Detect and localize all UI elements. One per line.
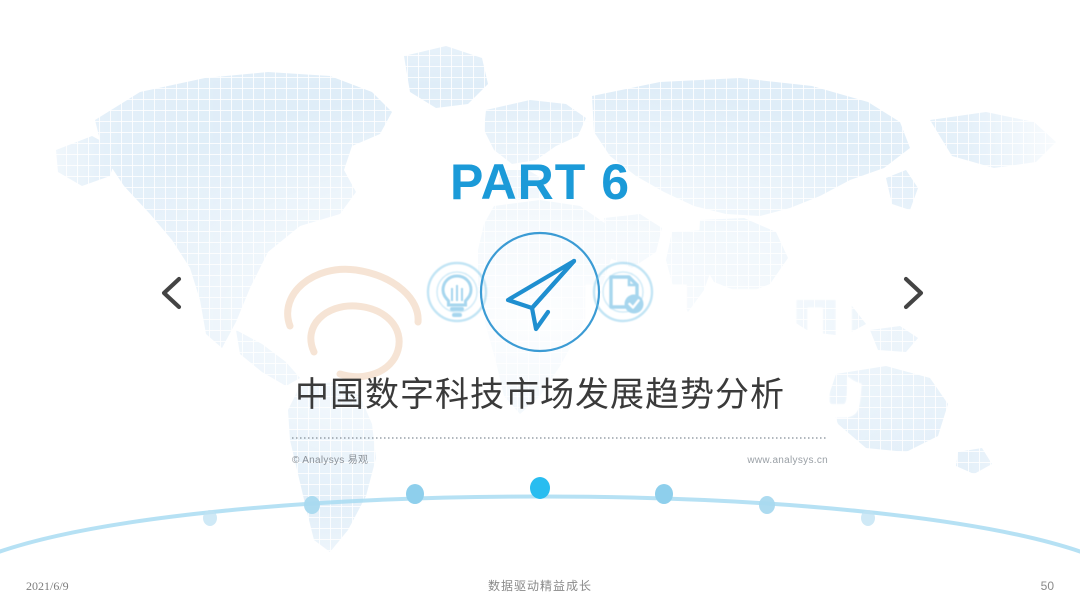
part-title: PART 6 [0, 152, 1080, 212]
paper-plane-icon [476, 228, 604, 356]
page-number: 50 [1041, 578, 1054, 594]
footer-slogan: 数据驱动精益成长 [0, 578, 1080, 594]
document-check-icon [591, 260, 655, 324]
dotted-divider [292, 437, 828, 439]
chevron-right-icon[interactable] [890, 272, 936, 318]
chevron-left-icon[interactable] [148, 272, 194, 318]
slide-canvas: 易观 PART 6 [0, 0, 1080, 608]
chevron-left-glyph [153, 272, 189, 314]
arc-dots [203, 477, 875, 526]
icon-cluster [415, 228, 665, 358]
slide-subtitle: 中国数字科技市场发展趋势分析 [0, 372, 1080, 418]
decorative-arc [0, 455, 1080, 565]
chevron-right-glyph [895, 272, 931, 314]
